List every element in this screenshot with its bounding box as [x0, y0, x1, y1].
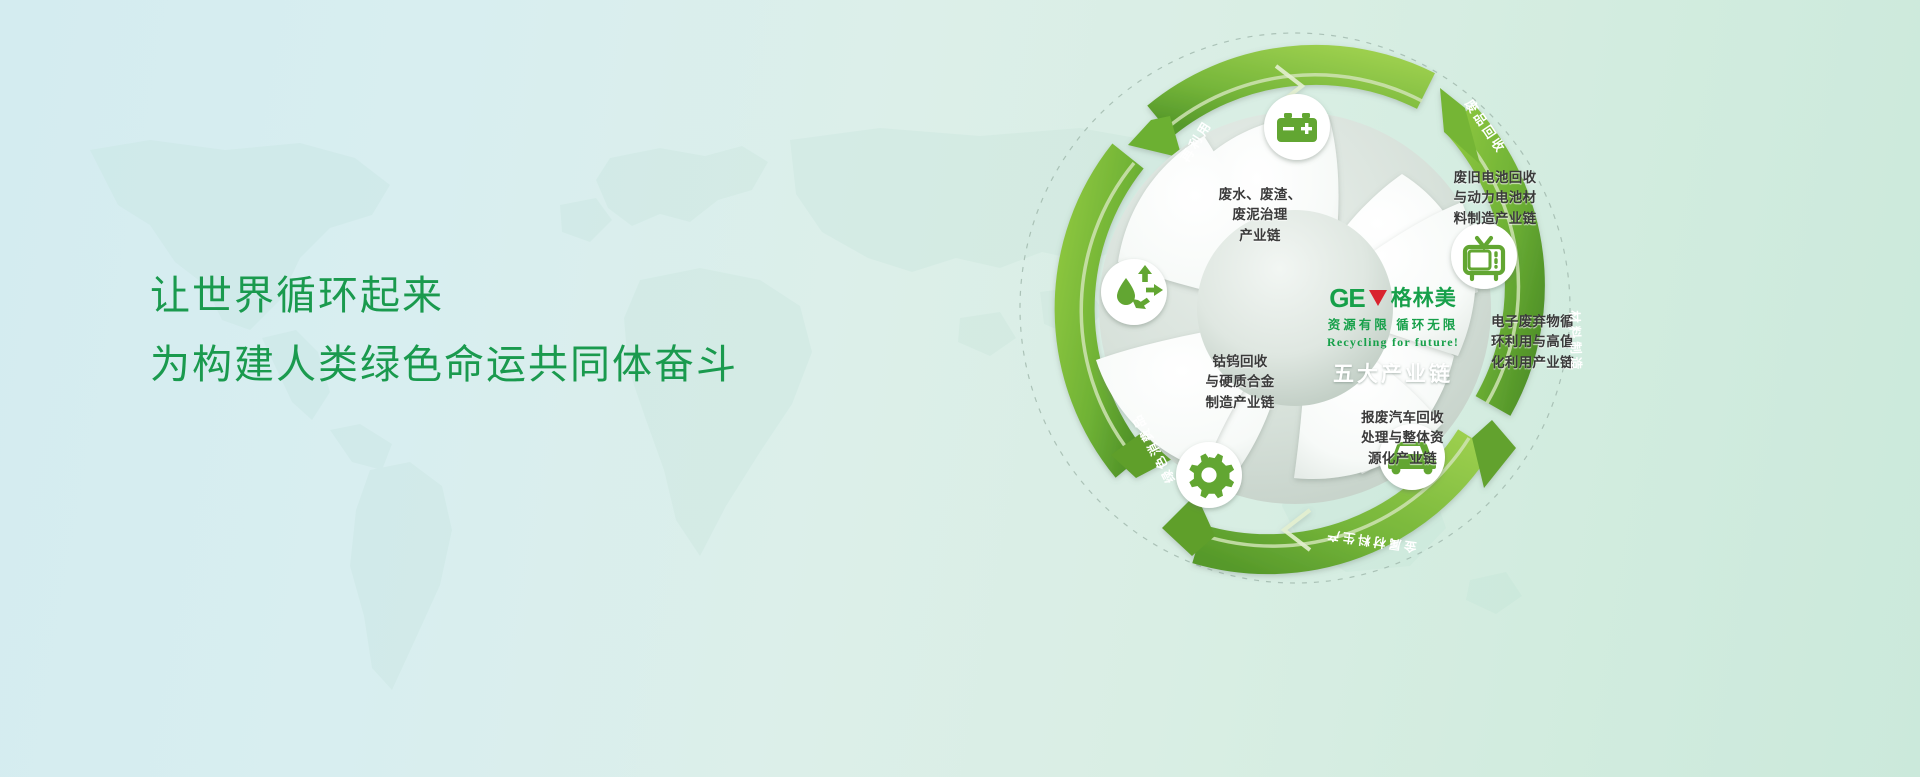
petal-label-vehicle: 报废汽车回收 处理与整体资 源化产业链 — [1310, 408, 1495, 469]
tv-icon-badge[interactable] — [1451, 223, 1517, 289]
gem-logo-chinese: 格林美 — [1391, 288, 1457, 309]
petal-label-waste: 废水、废渣、 废泥治理 产业链 — [1170, 185, 1350, 246]
gem-slogan-cn: 资源有限 循环无限 — [1293, 314, 1493, 333]
headline-line-2: 为构建人类绿色命运共同体奋斗 — [150, 337, 910, 394]
battery-icon-badge[interactable] — [1264, 94, 1330, 160]
gem-slogan-en: Recycling for future! — [1293, 335, 1493, 350]
headline-line-1: 让世界循环起来 — [150, 268, 910, 325]
gem-logo-mark-icon — [1369, 290, 1387, 306]
gear-icon-badge[interactable] — [1176, 442, 1242, 508]
headline: 让世界循环起来 为构建人类绿色命运共同体奋斗 — [150, 268, 910, 394]
petal-label-battery: 废旧电池回收 与动力电池材 料制造产业链 — [1400, 168, 1590, 229]
ring-label-material: 材料制造 — [1566, 310, 1587, 373]
center-title: 五大产业链 — [1293, 358, 1493, 388]
water-recycle-icon-badge[interactable] — [1101, 259, 1167, 325]
gem-logo: GE 格林美 资源有限 循环无限 Recycling for future! — [1293, 285, 1493, 350]
gem-logo-latin: GE — [1329, 285, 1365, 311]
